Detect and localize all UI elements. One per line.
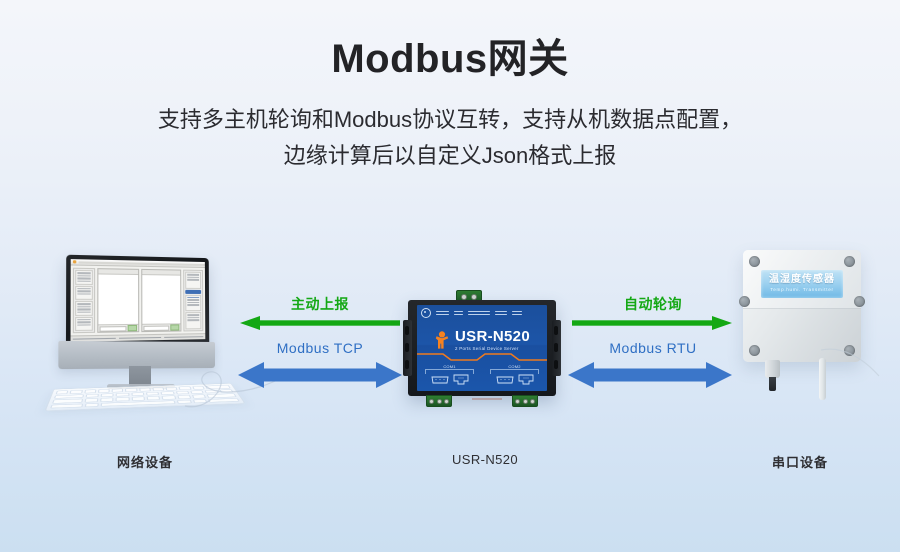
monitor-chin: [58, 341, 215, 369]
enclosure-screw: [844, 345, 855, 356]
usr-n520-gateway-node: USR-N520 2 Ports Serial Device Server CO…: [404, 300, 564, 410]
mounting-bracket-left: [403, 320, 412, 376]
cable-gland: [765, 360, 780, 378]
enclosure-screw: [749, 256, 760, 267]
gateway-branding: USR-N520 2 Ports Serial Device Server: [417, 329, 547, 351]
settings-group: [75, 270, 93, 285]
bottom-terminal-block-right: [512, 395, 538, 407]
subtitle-line-1: 支持多主机轮询和Modbus协议互转，支持从机数据点配置，: [0, 102, 900, 138]
settings-group: [75, 301, 93, 315]
connection-label-modbus-rtu: Modbus RTU: [578, 340, 728, 356]
gateway-model-block: USR-N520 2 Ports Serial Device Server: [455, 329, 530, 351]
panel-edge-detail: [472, 398, 502, 400]
rj45-ethernet-port-icon: [453, 374, 469, 385]
page-title: Modbus网关: [0, 0, 900, 82]
pane-send-button: [170, 324, 179, 330]
db9-serial-port-icon: [496, 375, 514, 384]
page-subtitle: 支持多主机轮询和Modbus协议互转，支持从机数据点配置， 边缘计算后以自定义J…: [0, 82, 900, 173]
gateway-shell: USR-N520 2 Ports Serial Device Server CO…: [408, 300, 556, 396]
panel-label-text: [454, 311, 463, 316]
panel-label-text: [468, 311, 490, 316]
terminal-screw: [429, 399, 434, 404]
app-center-panes: [97, 268, 181, 333]
gateway-model-subtitle: 2 Ports Serial Device Server: [455, 347, 519, 351]
keyboard: [45, 383, 246, 411]
pane-footer: [142, 323, 180, 331]
terminal-screw: [444, 399, 449, 404]
com2-port-group: COM2: [482, 363, 547, 391]
pane-send-button: [128, 325, 138, 331]
mounting-bracket-right: [552, 320, 561, 376]
caption-network-device: 网络设备: [95, 452, 195, 471]
pane-content: [142, 275, 180, 324]
panel-label-text: [495, 311, 507, 316]
pane-footer: [98, 324, 138, 332]
caption-gateway: USR-N520: [425, 452, 545, 467]
terminal-screw: [530, 399, 535, 404]
gateway-front-panel: USR-N520 2 Ports Serial Device Server CO…: [417, 305, 547, 391]
sensor-probe: [819, 358, 826, 400]
arrow-bidirectional-blue-icon: [238, 362, 402, 388]
caption-serial-device: 串口设备: [745, 452, 855, 471]
primary-action-button: [185, 290, 201, 294]
terminal-screw: [437, 399, 442, 404]
com1-port-group: COM1: [417, 363, 482, 391]
options-group: [185, 295, 201, 312]
enclosure-screw: [844, 256, 855, 267]
app-left-panel: [73, 268, 95, 334]
connection-label-auto-polling: 自动轮询: [578, 294, 728, 314]
terminal-screw: [515, 399, 520, 404]
db9-serial-port-icon: [431, 375, 449, 384]
app-body: [71, 266, 206, 336]
gateway-port-area: COM1: [417, 363, 547, 391]
usr-person-logo-icon: [434, 331, 450, 349]
monitor-screen: [70, 259, 205, 342]
subtitle-line-2: 边缘计算后以自定义Json格式上报: [0, 138, 900, 174]
arrow-right-green-icon: [572, 316, 732, 330]
app-icon: [73, 260, 76, 263]
sensor-name-en: Temp.humi. Transmitter: [770, 288, 833, 293]
sensor-enclosure: 温湿度传感器 Temp.humi. Transmitter: [743, 250, 861, 362]
gateway-topbar: [417, 305, 547, 321]
monitor-stand-neck: [129, 366, 151, 386]
pane-input: [143, 325, 169, 331]
serial-device-node: 温湿度传感器 Temp.humi. Transmitter: [735, 250, 875, 430]
send-pane: [141, 269, 181, 332]
arrow-bidirectional-blue-icon: [568, 362, 732, 388]
panel-divider-wave: [417, 352, 547, 362]
pane-content: [98, 274, 138, 324]
panel-label-text: [436, 311, 449, 316]
monitor: [66, 255, 209, 350]
options-group: [185, 312, 201, 329]
options-group: [185, 272, 201, 289]
app-right-panel: [183, 270, 203, 332]
enclosure-screw: [749, 345, 760, 356]
terminal-screw: [471, 294, 477, 300]
enclosure-screw: [739, 296, 750, 307]
panel-label-text: [512, 311, 522, 316]
settings-group: [75, 285, 93, 299]
terminal-screw: [523, 399, 528, 404]
connection-label-active-report: 主动上报: [245, 294, 395, 314]
sensor-nameplate: 温湿度传感器 Temp.humi. Transmitter: [761, 270, 843, 298]
reset-button-icon: [421, 308, 431, 318]
receive-pane: [97, 268, 139, 333]
bottom-terminal-block-left: [426, 395, 452, 407]
arrow-left-green-icon: [240, 316, 400, 330]
app-title-placeholder: [79, 261, 205, 266]
connection-label-modbus-tcp: Modbus TCP: [245, 340, 395, 356]
sensor-name-cn: 温湿度传感器: [769, 275, 835, 285]
gateway-model-name: USR-N520: [455, 329, 530, 344]
enclosure-screw: [854, 296, 865, 307]
settings-group: [75, 316, 93, 331]
page-header: Modbus网关 支持多主机轮询和Modbus协议互转，支持从机数据点配置， 边…: [0, 0, 900, 173]
terminal-screw: [461, 294, 467, 300]
rj45-ethernet-port-icon: [518, 374, 534, 385]
topology-diagram: 主动上报 Modbus TCP: [0, 240, 900, 552]
pane-input: [99, 326, 126, 332]
